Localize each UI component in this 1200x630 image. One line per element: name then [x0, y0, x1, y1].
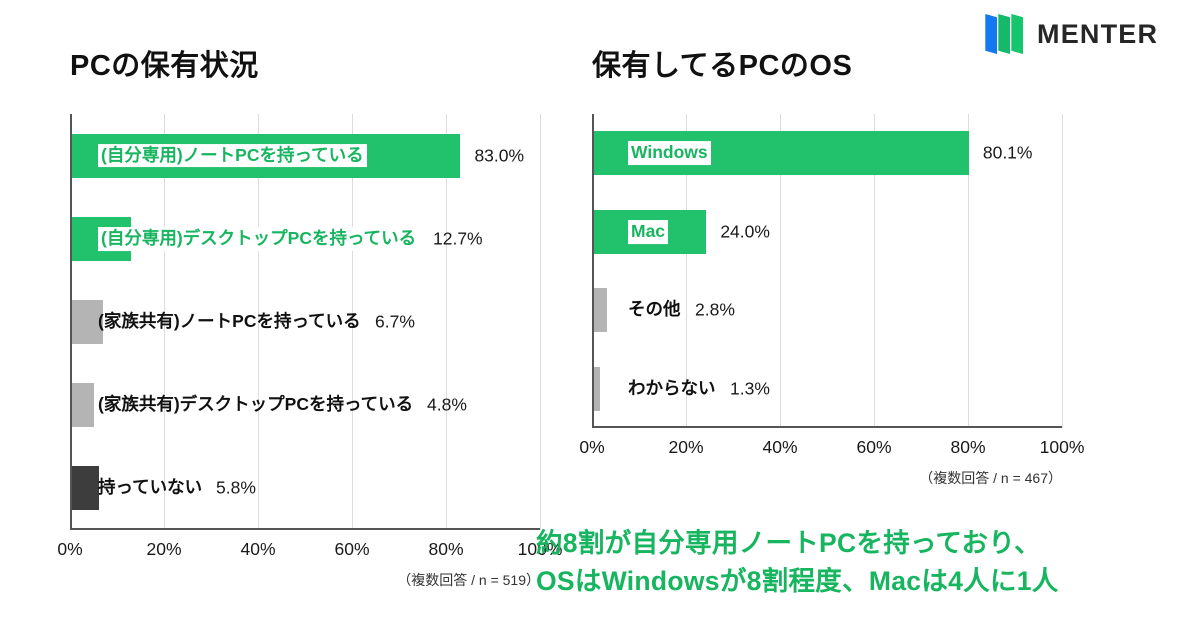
bar-row[interactable]: わからない1.3% [594, 367, 1062, 411]
plot-area: Windows80.1%Mac24.0%その他2.8%わからない1.3% [592, 114, 1062, 428]
bar-category-label: 持っていない [98, 477, 202, 499]
bar[interactable] [72, 383, 94, 427]
bar-value-label: 5.8% [216, 478, 256, 499]
y-axis-line [592, 114, 594, 428]
x-axis-tick: 20% [146, 539, 181, 560]
bar-row[interactable]: (自分専用)デスクトップPCを持っている12.7% [72, 217, 540, 261]
bar-chart-pc-ownership: (自分専用)ノートPCを持っている83.0%(自分専用)デスクトップPCを持って… [70, 114, 540, 564]
bar-value-label: 2.8% [695, 300, 735, 321]
bar-category-label: わからない [628, 378, 716, 400]
bar-value-label: 1.3% [730, 378, 770, 399]
bar-value-label: 12.7% [433, 228, 483, 249]
page-title-pc-os: 保有してるPCのOS [592, 42, 1062, 84]
bar[interactable] [594, 367, 600, 411]
bar-category-label: その他 [628, 299, 681, 321]
chart-panel-pc-ownership: PCの保有状況 (自分専用)ノートPCを持っている83.0%(自分専用)デスクト… [70, 42, 540, 564]
bar-value-label: 6.7% [375, 312, 415, 333]
bar-category-label: Mac [628, 220, 668, 244]
bar-row[interactable]: 持っていない5.8% [72, 466, 540, 510]
bar-row[interactable]: (家族共有)ノートPCを持っている6.7% [72, 300, 540, 344]
gridline [540, 114, 541, 530]
x-axis-line [70, 528, 540, 530]
bar-value-label: 4.8% [427, 395, 467, 416]
summary-text: 約8割が自分専用ノートPCを持っており、 OSはWindowsが8割程度、Mac… [536, 525, 1059, 600]
chart-panel-pc-os: 保有してるPCのOS Windows80.1%Mac24.0%その他2.8%わか… [592, 42, 1062, 462]
bar-category-label: (家族共有)ノートPCを持っている [98, 311, 361, 333]
x-axis-tick: 0% [579, 437, 604, 458]
x-axis-tick: 80% [428, 539, 463, 560]
bar[interactable] [72, 466, 99, 510]
bar-category-label: (自分専用)ノートPCを持っている [98, 144, 367, 168]
bar[interactable] [594, 288, 607, 332]
x-axis-line [592, 426, 1062, 428]
page-title-pc-ownership: PCの保有状況 [70, 42, 540, 84]
bar-chart-pc-os: Windows80.1%Mac24.0%その他2.8%わからない1.3%0%20… [592, 114, 1062, 462]
x-axis-tick: 60% [334, 539, 369, 560]
plot-area: (自分専用)ノートPCを持っている83.0%(自分専用)デスクトップPCを持って… [70, 114, 540, 530]
x-axis-tick: 100% [1040, 437, 1085, 458]
gridline [1062, 114, 1063, 428]
sample-size-note: （複数回答 / n = 467） [919, 468, 1062, 488]
bar-value-label: 80.1% [983, 143, 1033, 164]
x-axis-tick: 60% [856, 437, 891, 458]
bar-value-label: 83.0% [474, 145, 524, 166]
x-axis-tick: 80% [950, 437, 985, 458]
bar-row[interactable]: (自分専用)ノートPCを持っている83.0% [72, 134, 540, 178]
summary-line-1: 約8割が自分専用ノートPCを持っており、 [536, 525, 1059, 563]
x-axis-tick: 40% [762, 437, 797, 458]
x-axis-tick: 20% [668, 437, 703, 458]
bar-group: (自分専用)ノートPCを持っている83.0%(自分専用)デスクトップPCを持って… [72, 114, 540, 528]
bar-value-label: 24.0% [720, 221, 770, 242]
sample-size-note: （複数回答 / n = 519） [397, 570, 540, 590]
bar-row[interactable]: その他2.8% [594, 288, 1062, 332]
summary-line-2: OSはWindowsが8割程度、Macは4人に1人 [536, 563, 1059, 601]
bar-group: Windows80.1%Mac24.0%その他2.8%わからない1.3% [594, 114, 1062, 426]
bar-row[interactable]: (家族共有)デスクトップPCを持っている4.8% [72, 383, 540, 427]
y-axis-line [70, 114, 72, 530]
x-axis-tick: 40% [240, 539, 275, 560]
bar-row[interactable]: Mac24.0% [594, 210, 1062, 254]
bar-category-label: (自分専用)デスクトップPCを持っている [98, 227, 419, 251]
bar-category-label: Windows [628, 141, 711, 165]
bar-row[interactable]: Windows80.1% [594, 131, 1062, 175]
x-axis-tick: 0% [57, 539, 82, 560]
bar-category-label: (家族共有)デスクトップPCを持っている [98, 394, 413, 416]
